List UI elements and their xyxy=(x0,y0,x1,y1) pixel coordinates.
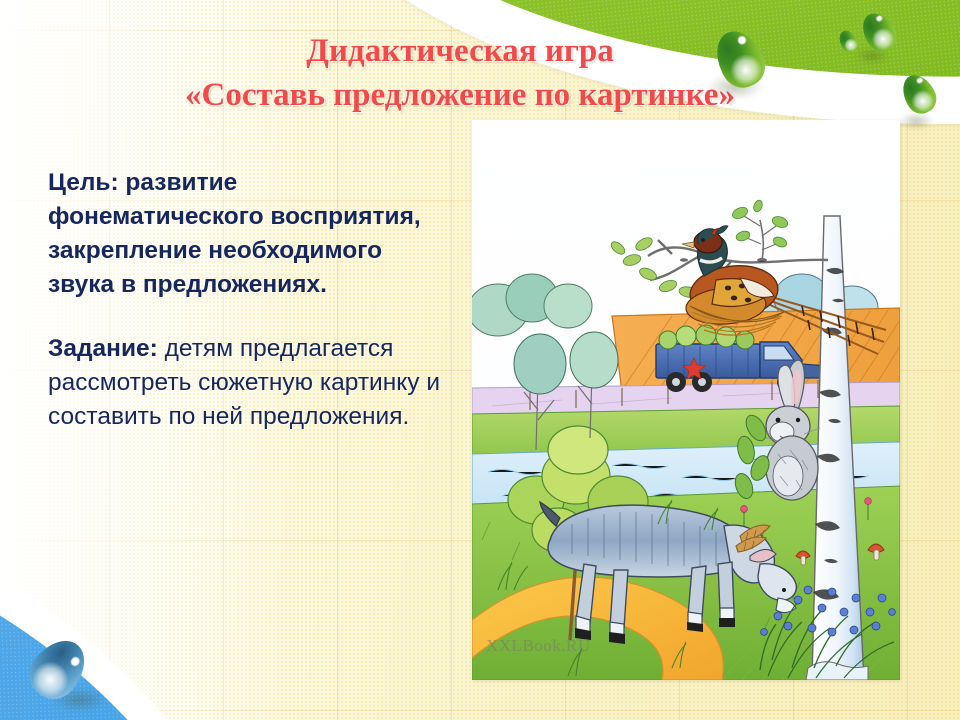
illustration-watermark: XXLBook.RU xyxy=(486,636,591,656)
paragraph-spacer xyxy=(48,302,448,332)
illustration-artwork xyxy=(472,120,900,680)
task-label: Задание: xyxy=(48,335,158,362)
title-line-1: Дидактическая игра xyxy=(306,33,613,69)
droplet-specular xyxy=(69,655,81,667)
goal-paragraph: Цель: развитие фонематического восприяти… xyxy=(48,166,448,302)
droplet-specular xyxy=(737,35,748,46)
slide-canvas: Дидактическая игра «Составь предложение … xyxy=(0,0,960,720)
green-droplet-edge-shadow xyxy=(898,112,934,130)
droplet-specular xyxy=(875,15,882,23)
slide-body-text: Цель: развитие фонематического восприяти… xyxy=(48,166,448,433)
illustration-panel: XXLBook.RU xyxy=(472,120,900,680)
droplet-specular xyxy=(916,77,923,84)
task-paragraph: Задание: детям предлагается рассмотреть … xyxy=(48,332,448,434)
